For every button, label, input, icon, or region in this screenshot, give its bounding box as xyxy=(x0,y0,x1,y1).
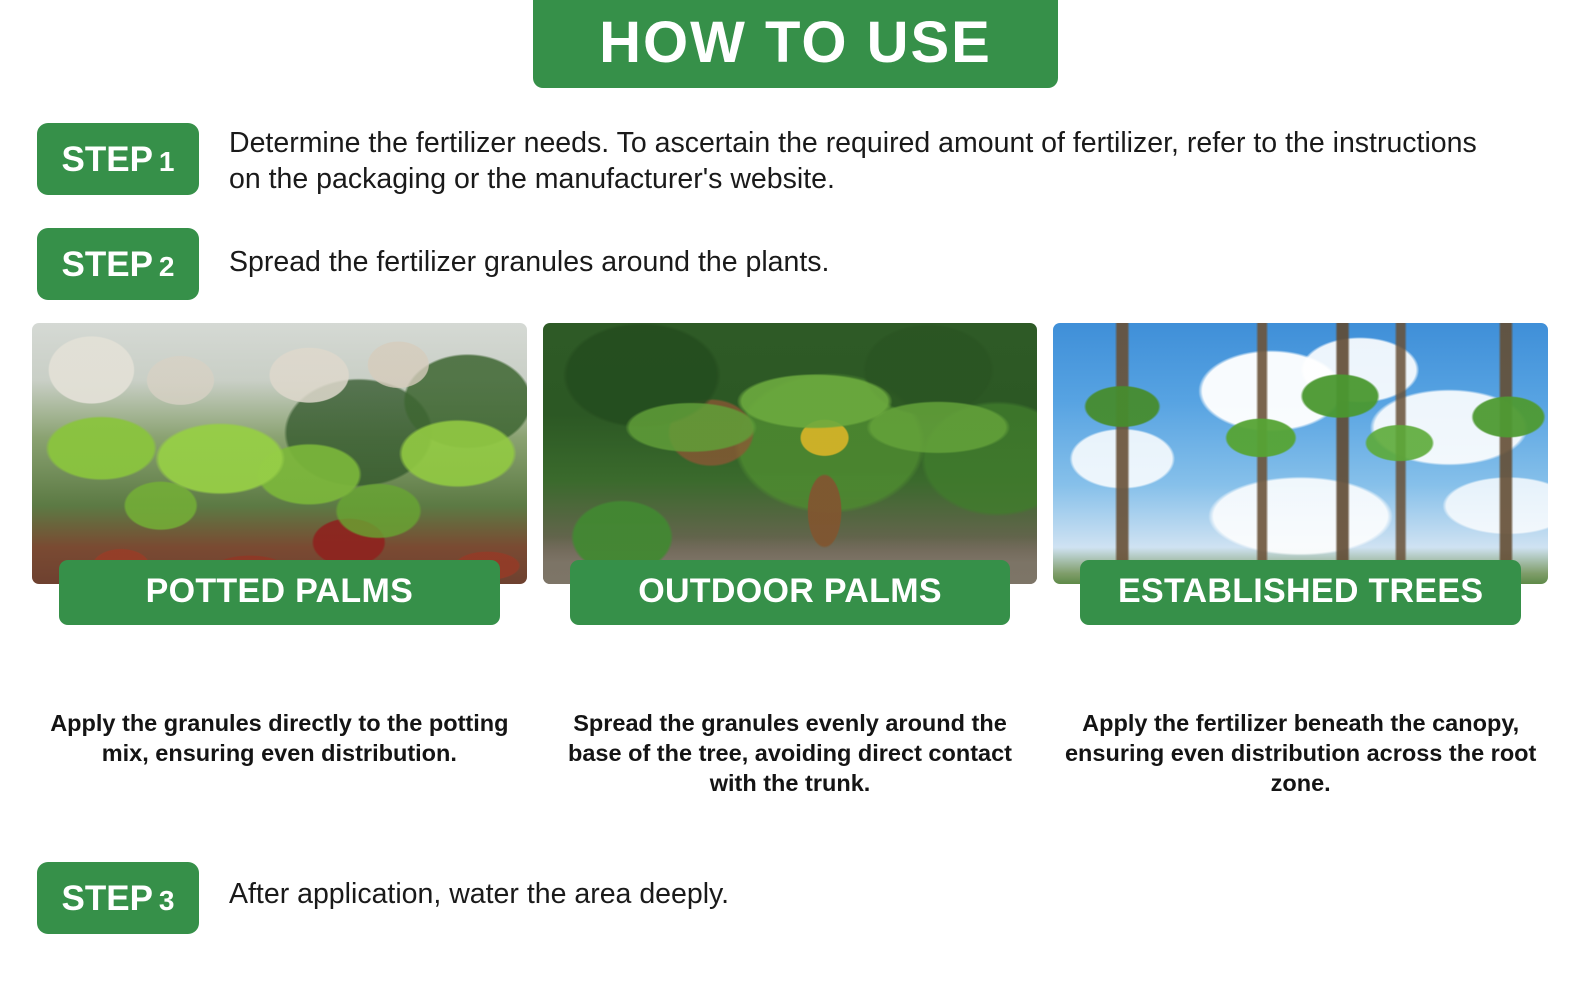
step-badge-word: STEP xyxy=(62,881,153,916)
card-label-established-trees: ESTABLISHED TREES xyxy=(1080,560,1521,625)
step-badge-number: 1 xyxy=(159,148,175,176)
step-badge-2: STEP 2 xyxy=(37,228,199,300)
outdoor-palms-photo xyxy=(543,323,1038,584)
step-2-text: Spread the fertilizer granules around th… xyxy=(229,228,829,280)
step-badge-word: STEP xyxy=(62,247,153,282)
card-label-outdoor-palms: OUTDOOR PALMS xyxy=(570,560,1011,625)
step-badge-number: 3 xyxy=(159,887,175,915)
card-outdoor-palms: OUTDOOR PALMS Spread the granules evenly… xyxy=(543,323,1038,798)
step-row-2: STEP 2 Spread the fertilizer granules ar… xyxy=(37,228,829,300)
step-row-3: STEP 3 After application, water the area… xyxy=(37,862,729,934)
card-caption-established-trees: Apply the fertilizer beneath the canopy,… xyxy=(1053,708,1548,798)
page-title: HOW TO USE xyxy=(599,6,992,72)
potted-palms-photo xyxy=(32,323,527,584)
step-badge-number: 2 xyxy=(159,253,175,281)
established-trees-photo xyxy=(1053,323,1548,584)
step-3-text: After application, water the area deeply… xyxy=(229,862,729,912)
card-grid: POTTED PALMS Apply the granules directly… xyxy=(32,323,1548,798)
card-established-trees: ESTABLISHED TREES Apply the fertilizer b… xyxy=(1053,323,1548,798)
card-caption-outdoor-palms: Spread the granules evenly around the ba… xyxy=(543,708,1038,798)
header-banner: HOW TO USE xyxy=(533,0,1058,88)
card-caption-potted-palms: Apply the granules directly to the potti… xyxy=(32,708,527,768)
card-potted-palms: POTTED PALMS Apply the granules directly… xyxy=(32,323,527,798)
step-1-text: Determine the fertilizer needs. To ascer… xyxy=(229,123,1479,198)
step-badge-1: STEP 1 xyxy=(37,123,199,195)
card-label-potted-palms: POTTED PALMS xyxy=(59,560,500,625)
step-badge-3: STEP 3 xyxy=(37,862,199,934)
step-row-1: STEP 1 Determine the fertilizer needs. T… xyxy=(37,123,1479,198)
step-badge-word: STEP xyxy=(62,142,153,177)
